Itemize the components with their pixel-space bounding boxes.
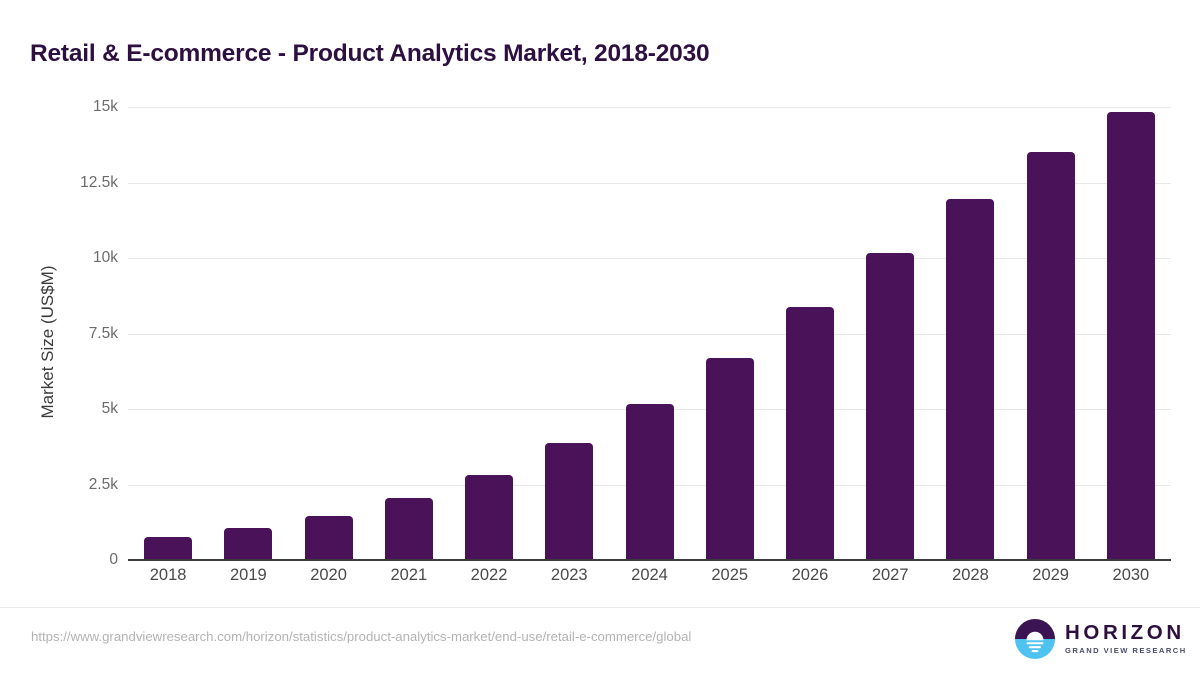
y-tick-label: 7.5k — [38, 325, 118, 343]
gridline — [128, 183, 1171, 184]
x-tick-label: 2021 — [369, 566, 449, 585]
x-axis-tick-labels: 2018201920202021202220232024202520262027… — [128, 566, 1171, 596]
x-tick-label: 2025 — [690, 566, 770, 585]
plot-area — [128, 107, 1171, 560]
bar[interactable] — [866, 253, 914, 560]
y-tick-label: 10k — [38, 249, 118, 267]
bar[interactable] — [305, 516, 353, 560]
y-tick-label: 15k — [38, 98, 118, 116]
logo-tagline: GRAND VIEW RESEARCH — [1065, 647, 1187, 655]
x-tick-label: 2029 — [1011, 566, 1091, 585]
y-tick-label: 12.5k — [38, 174, 118, 192]
x-axis-line — [128, 559, 1171, 561]
x-tick-label: 2018 — [128, 566, 208, 585]
bar[interactable] — [786, 307, 834, 560]
bar[interactable] — [465, 475, 513, 560]
source-url[interactable]: https://www.grandviewresearch.com/horizo… — [31, 629, 691, 644]
x-tick-label: 2019 — [208, 566, 288, 585]
gridline — [128, 258, 1171, 259]
y-tick-label: 2.5k — [38, 476, 118, 494]
x-tick-label: 2028 — [930, 566, 1010, 585]
footer-divider — [0, 607, 1200, 608]
horizon-sun-icon — [1014, 618, 1056, 660]
bar[interactable] — [1107, 112, 1155, 560]
bar[interactable] — [946, 199, 994, 560]
x-tick-label: 2026 — [770, 566, 850, 585]
y-axis-tick-labels: 02.5k5k7.5k10k12.5k15k — [32, 107, 118, 560]
x-tick-label: 2030 — [1091, 566, 1171, 585]
logo-wordmark: HORIZON — [1065, 623, 1187, 644]
page-title: Retail & E-commerce - Product Analytics … — [30, 40, 709, 68]
bar[interactable] — [545, 443, 593, 560]
gridline — [128, 107, 1171, 108]
y-tick-label: 5k — [38, 400, 118, 418]
bar[interactable] — [706, 358, 754, 560]
bar[interactable] — [144, 537, 192, 560]
y-tick-label: 0 — [38, 551, 118, 569]
chart-page: Retail & E-commerce - Product Analytics … — [0, 0, 1200, 675]
logo-text: HORIZON GRAND VIEW RESEARCH — [1065, 623, 1187, 655]
bar[interactable] — [1027, 152, 1075, 560]
bar[interactable] — [385, 498, 433, 560]
horizon-logo[interactable]: HORIZON GRAND VIEW RESEARCH — [1014, 618, 1187, 660]
x-tick-label: 2022 — [449, 566, 529, 585]
bar[interactable] — [626, 404, 674, 560]
x-tick-label: 2027 — [850, 566, 930, 585]
bar[interactable] — [224, 528, 272, 560]
x-tick-label: 2024 — [610, 566, 690, 585]
gridline — [128, 334, 1171, 335]
x-tick-label: 2020 — [289, 566, 369, 585]
x-tick-label: 2023 — [529, 566, 609, 585]
